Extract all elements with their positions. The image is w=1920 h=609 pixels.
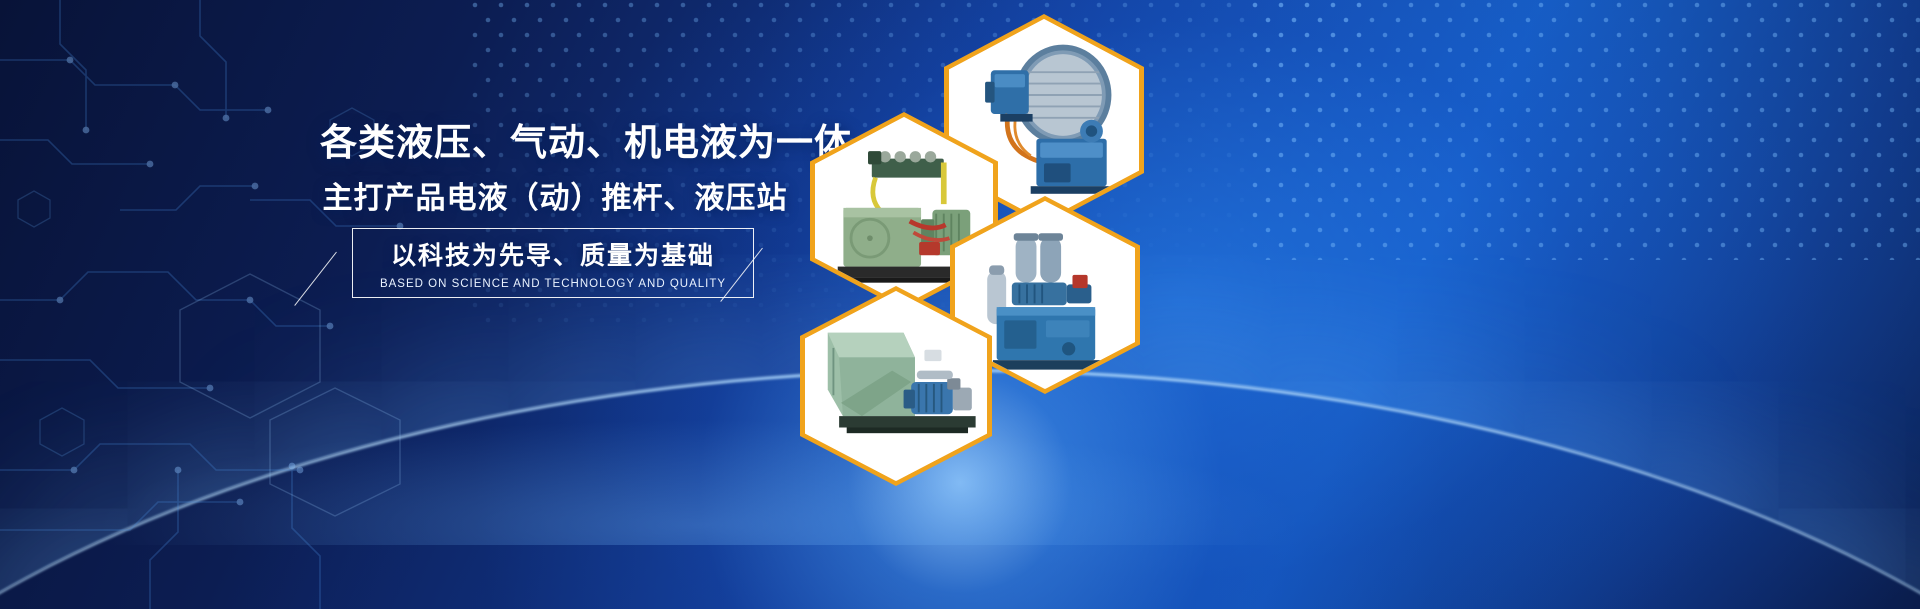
slogan-left-diagonal-rule (294, 252, 337, 306)
hex-feeder-drive-photo-frame (805, 291, 987, 481)
hex-dot-pattern-right-decoration (1250, 0, 1920, 260)
slogan-group: 以科技为先导、质量为基础 BASED ON SCIENCE AND TECHNO… (300, 228, 830, 318)
hero-banner: 各类液压、气动、机电液为一体 主打产品电液（动）推杆、液压站 以科技为先导、质量… (0, 0, 1920, 609)
slogan-english: BASED ON SCIENCE AND TECHNOLOGY AND QUAL… (380, 278, 726, 290)
slogan-chinese: 以科技为先导、质量为基础 (391, 236, 715, 272)
slogan-box: 以科技为先导、质量为基础 BASED ON SCIENCE AND TECHNO… (352, 228, 754, 298)
feeder-push-rod-photo (805, 291, 987, 481)
banner-headline: 各类液压、气动、机电液为一体 (320, 120, 790, 167)
banner-subline: 主打产品电液（动）推杆、液压站 (320, 179, 790, 218)
headline-block: 各类液压、气动、机电液为一体 主打产品电液（动）推杆、液压站 (320, 120, 790, 218)
